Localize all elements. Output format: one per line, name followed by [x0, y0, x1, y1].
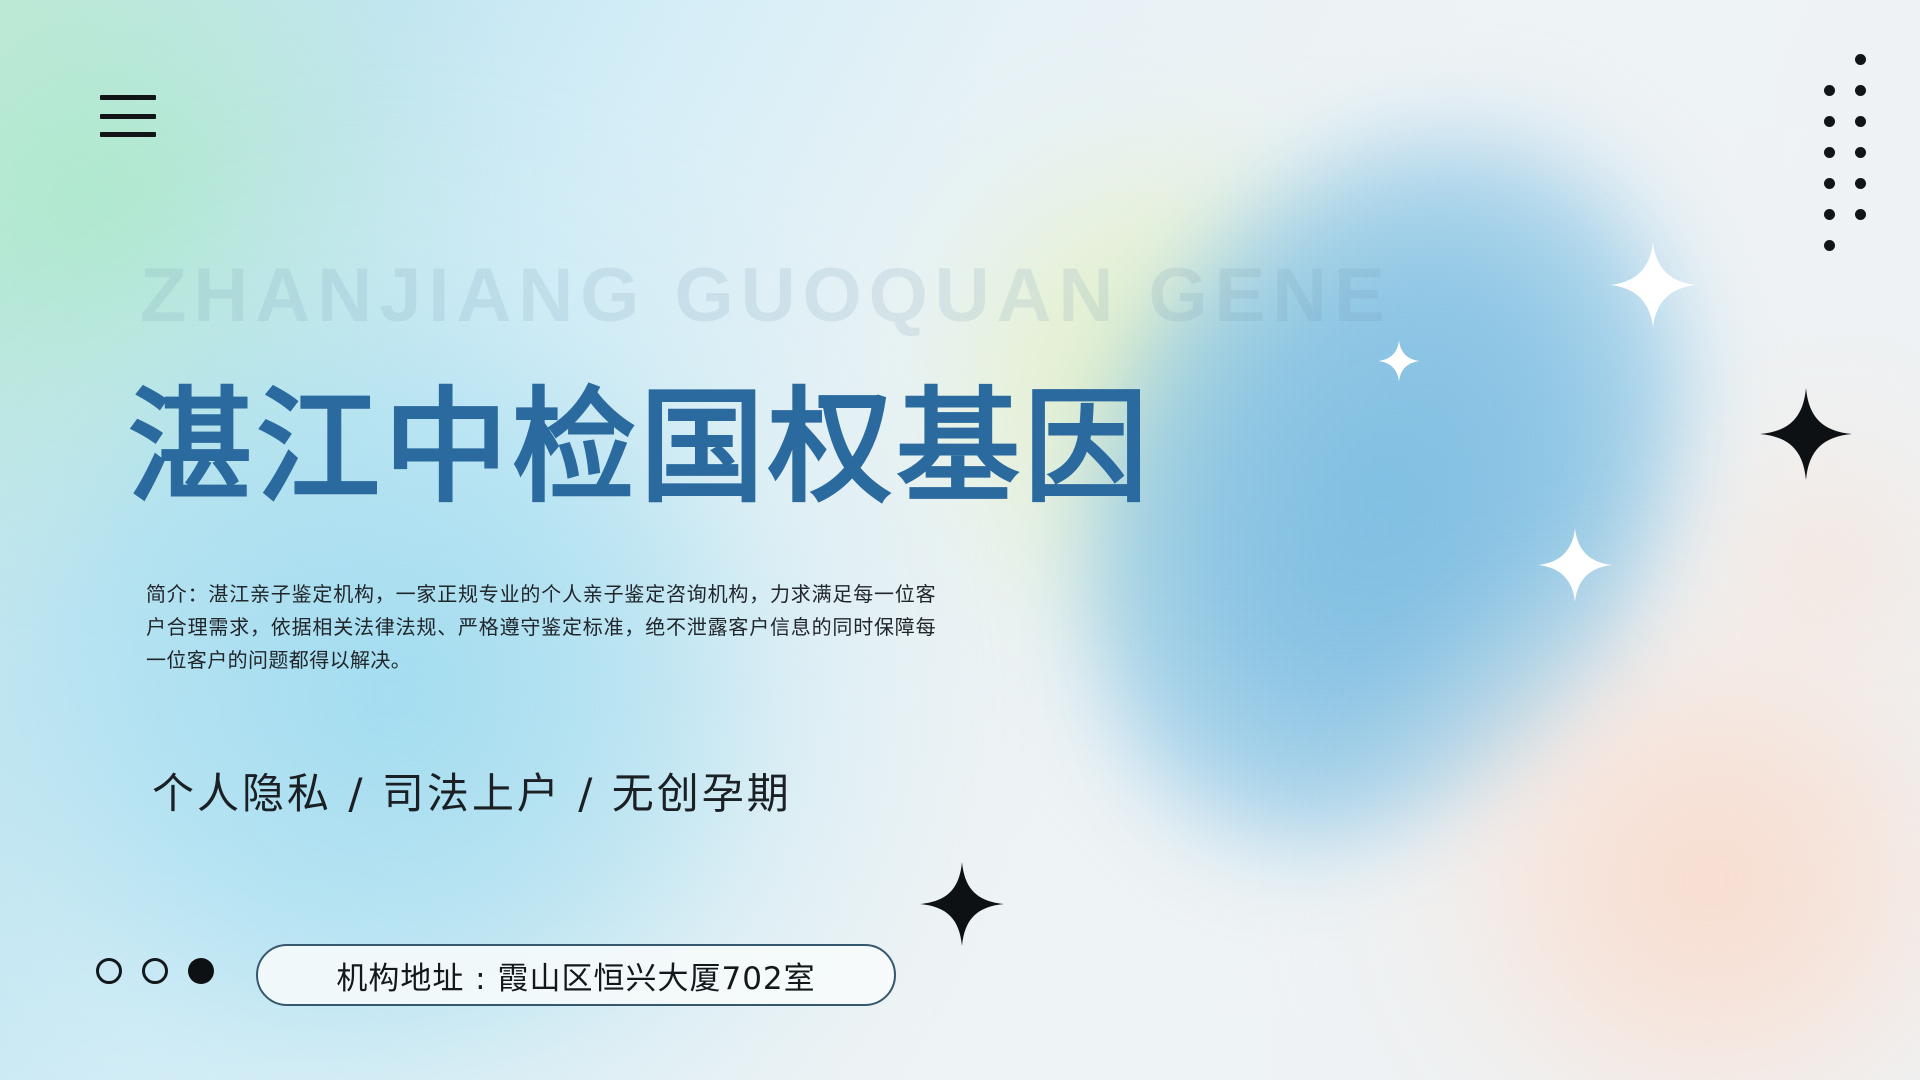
- hamburger-bar-top: [100, 95, 156, 100]
- hamburger-menu-icon[interactable]: [100, 95, 156, 137]
- grid-dot: [1824, 85, 1835, 96]
- sparkle-white-small-icon: [1378, 340, 1420, 382]
- grid-dot: [1855, 85, 1866, 96]
- grid-dot: [1855, 54, 1866, 65]
- watermark-text: ZHANJIANG GUOQUAN GENE: [140, 252, 1392, 339]
- grid-dot: [1824, 240, 1835, 251]
- pagination-dots[interactable]: [96, 958, 214, 984]
- poster-content: ZHANJIANG GUOQUAN GENE 湛江中检国权基因 简介：湛江亲子鉴…: [0, 0, 1920, 1080]
- sparkle-white-medium-icon: [1538, 528, 1612, 602]
- grid-dot: [1824, 116, 1835, 127]
- pagination-dot-3-active[interactable]: [188, 958, 214, 984]
- pagination-dot-1[interactable]: [96, 958, 122, 984]
- page-title: 湛江中检国权基因: [128, 382, 1152, 516]
- sparkle-black-bottom-icon: [920, 862, 1004, 946]
- grid-dot: [1855, 116, 1866, 127]
- grid-dot: [1855, 147, 1866, 158]
- grid-dot: [1855, 178, 1866, 189]
- grid-dot: [1855, 209, 1866, 220]
- grid-dot: [1824, 209, 1835, 220]
- address-badge[interactable]: 机构地址 : 霞山区恒兴大厦702室: [256, 944, 896, 1006]
- sparkle-black-right-icon: [1760, 388, 1852, 480]
- hamburger-bar-middle: [100, 114, 156, 119]
- dot-grid-icon: [1824, 54, 1886, 240]
- grid-dot: [1824, 147, 1835, 158]
- grid-dot: [1824, 178, 1835, 189]
- pagination-dot-2[interactable]: [142, 958, 168, 984]
- sparkle-white-large-icon: [1610, 242, 1696, 328]
- poster-canvas: ZHANJIANG GUOQUAN GENE 湛江中检国权基因 简介：湛江亲子鉴…: [0, 0, 1920, 1080]
- services-tagline: 个人隐私 / 司法上户 / 无创孕期: [152, 760, 792, 821]
- hamburger-bar-bottom: [100, 132, 156, 137]
- intro-paragraph: 简介：湛江亲子鉴定机构，一家正规专业的个人亲子鉴定咨询机构，力求满足每一位客户合…: [146, 578, 936, 677]
